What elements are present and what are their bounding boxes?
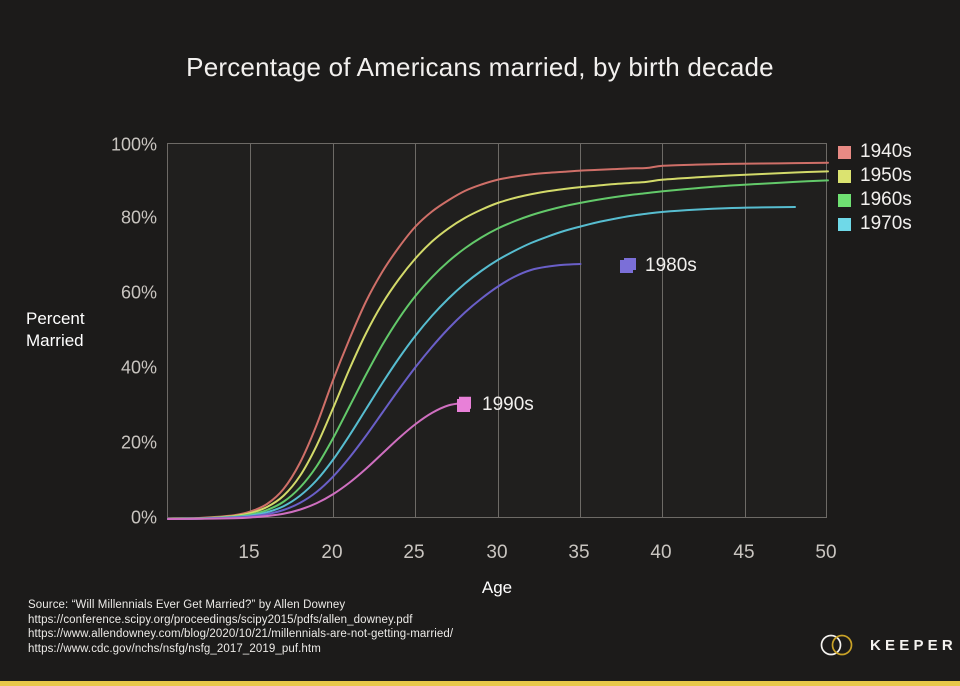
source-line-title: Source: “Will Millennials Ever Get Marri… (28, 598, 453, 613)
keeper-rings-icon (818, 632, 858, 658)
inline-label-1980s[interactable]: 1980s (620, 255, 697, 277)
legend-item-1960s[interactable]: 1960s (838, 188, 956, 212)
x-tick-35: 35 (549, 542, 609, 564)
legend-swatch-icon (838, 146, 851, 159)
series-line-1940s (168, 163, 828, 519)
legend-label: 1940s (860, 141, 912, 163)
inline-label-text: 1980s (645, 255, 697, 277)
inline-label-text: 1990s (482, 394, 534, 416)
series-line-1960s (168, 180, 828, 519)
series-line-1980s (168, 264, 581, 519)
legend-label: 1950s (860, 165, 912, 187)
y-tick-20: 20% (57, 433, 157, 454)
legend-swatch-icon (838, 218, 851, 231)
x-tick-45: 45 (714, 542, 774, 564)
source-block: Source: “Will Millennials Ever Get Marri… (28, 598, 453, 656)
legend-label: 1970s (860, 213, 912, 235)
legend-label: 1960s (860, 189, 912, 211)
series-marker-icon (457, 399, 470, 412)
chart-page: Percentage of Americans married, by birt… (0, 0, 960, 686)
x-axis-title: Age (167, 578, 827, 598)
y-tick-60: 60% (57, 283, 157, 304)
legend-item-1950s[interactable]: 1950s (838, 164, 956, 188)
x-axis-ticks: 15 20 25 30 35 40 45 50 (167, 542, 827, 568)
x-tick-30: 30 (467, 542, 527, 564)
x-tick-40: 40 (631, 542, 691, 564)
y-axis-title-line2: Married (26, 330, 136, 352)
y-tick-40: 40% (57, 358, 157, 379)
y-tick-100: 100% (57, 135, 157, 156)
y-tick-80: 80% (57, 208, 157, 229)
y-axis-title-line1: Percent (26, 308, 136, 330)
y-tick-0: 0% (57, 508, 157, 529)
x-tick-20: 20 (302, 542, 362, 564)
source-line-url-2[interactable]: https://www.allendowney.com/blog/2020/10… (28, 627, 453, 642)
keeper-logo: KEEPER (818, 632, 957, 658)
x-tick-50: 50 (796, 542, 856, 564)
x-tick-25: 25 (384, 542, 444, 564)
series-line-1990s (168, 403, 465, 519)
accent-bar-bottom (0, 681, 960, 686)
legend-item-1940s[interactable]: 1940s (838, 140, 956, 164)
plot-area (167, 143, 827, 518)
inline-label-1990s[interactable]: 1990s (457, 394, 534, 416)
page-title: Percentage of Americans married, by birt… (0, 52, 960, 83)
x-tick-15: 15 (219, 542, 279, 564)
legend-item-1970s[interactable]: 1970s (838, 212, 956, 236)
series-curves (168, 144, 828, 519)
legend-swatch-icon (838, 170, 851, 183)
series-line-1970s (168, 207, 795, 519)
series-marker-icon (620, 260, 633, 273)
series-line-1950s (168, 171, 828, 519)
legend: 1940s 1950s 1960s 1970s (838, 140, 956, 236)
y-axis-title: Percent Married (26, 308, 136, 352)
source-line-url-1[interactable]: https://conference.scipy.org/proceedings… (28, 613, 453, 628)
source-line-url-3[interactable]: https://www.cdc.gov/nchs/nsfg/nsfg_2017_… (28, 642, 453, 657)
legend-swatch-icon (838, 194, 851, 207)
keeper-wordmark: KEEPER (870, 637, 957, 654)
